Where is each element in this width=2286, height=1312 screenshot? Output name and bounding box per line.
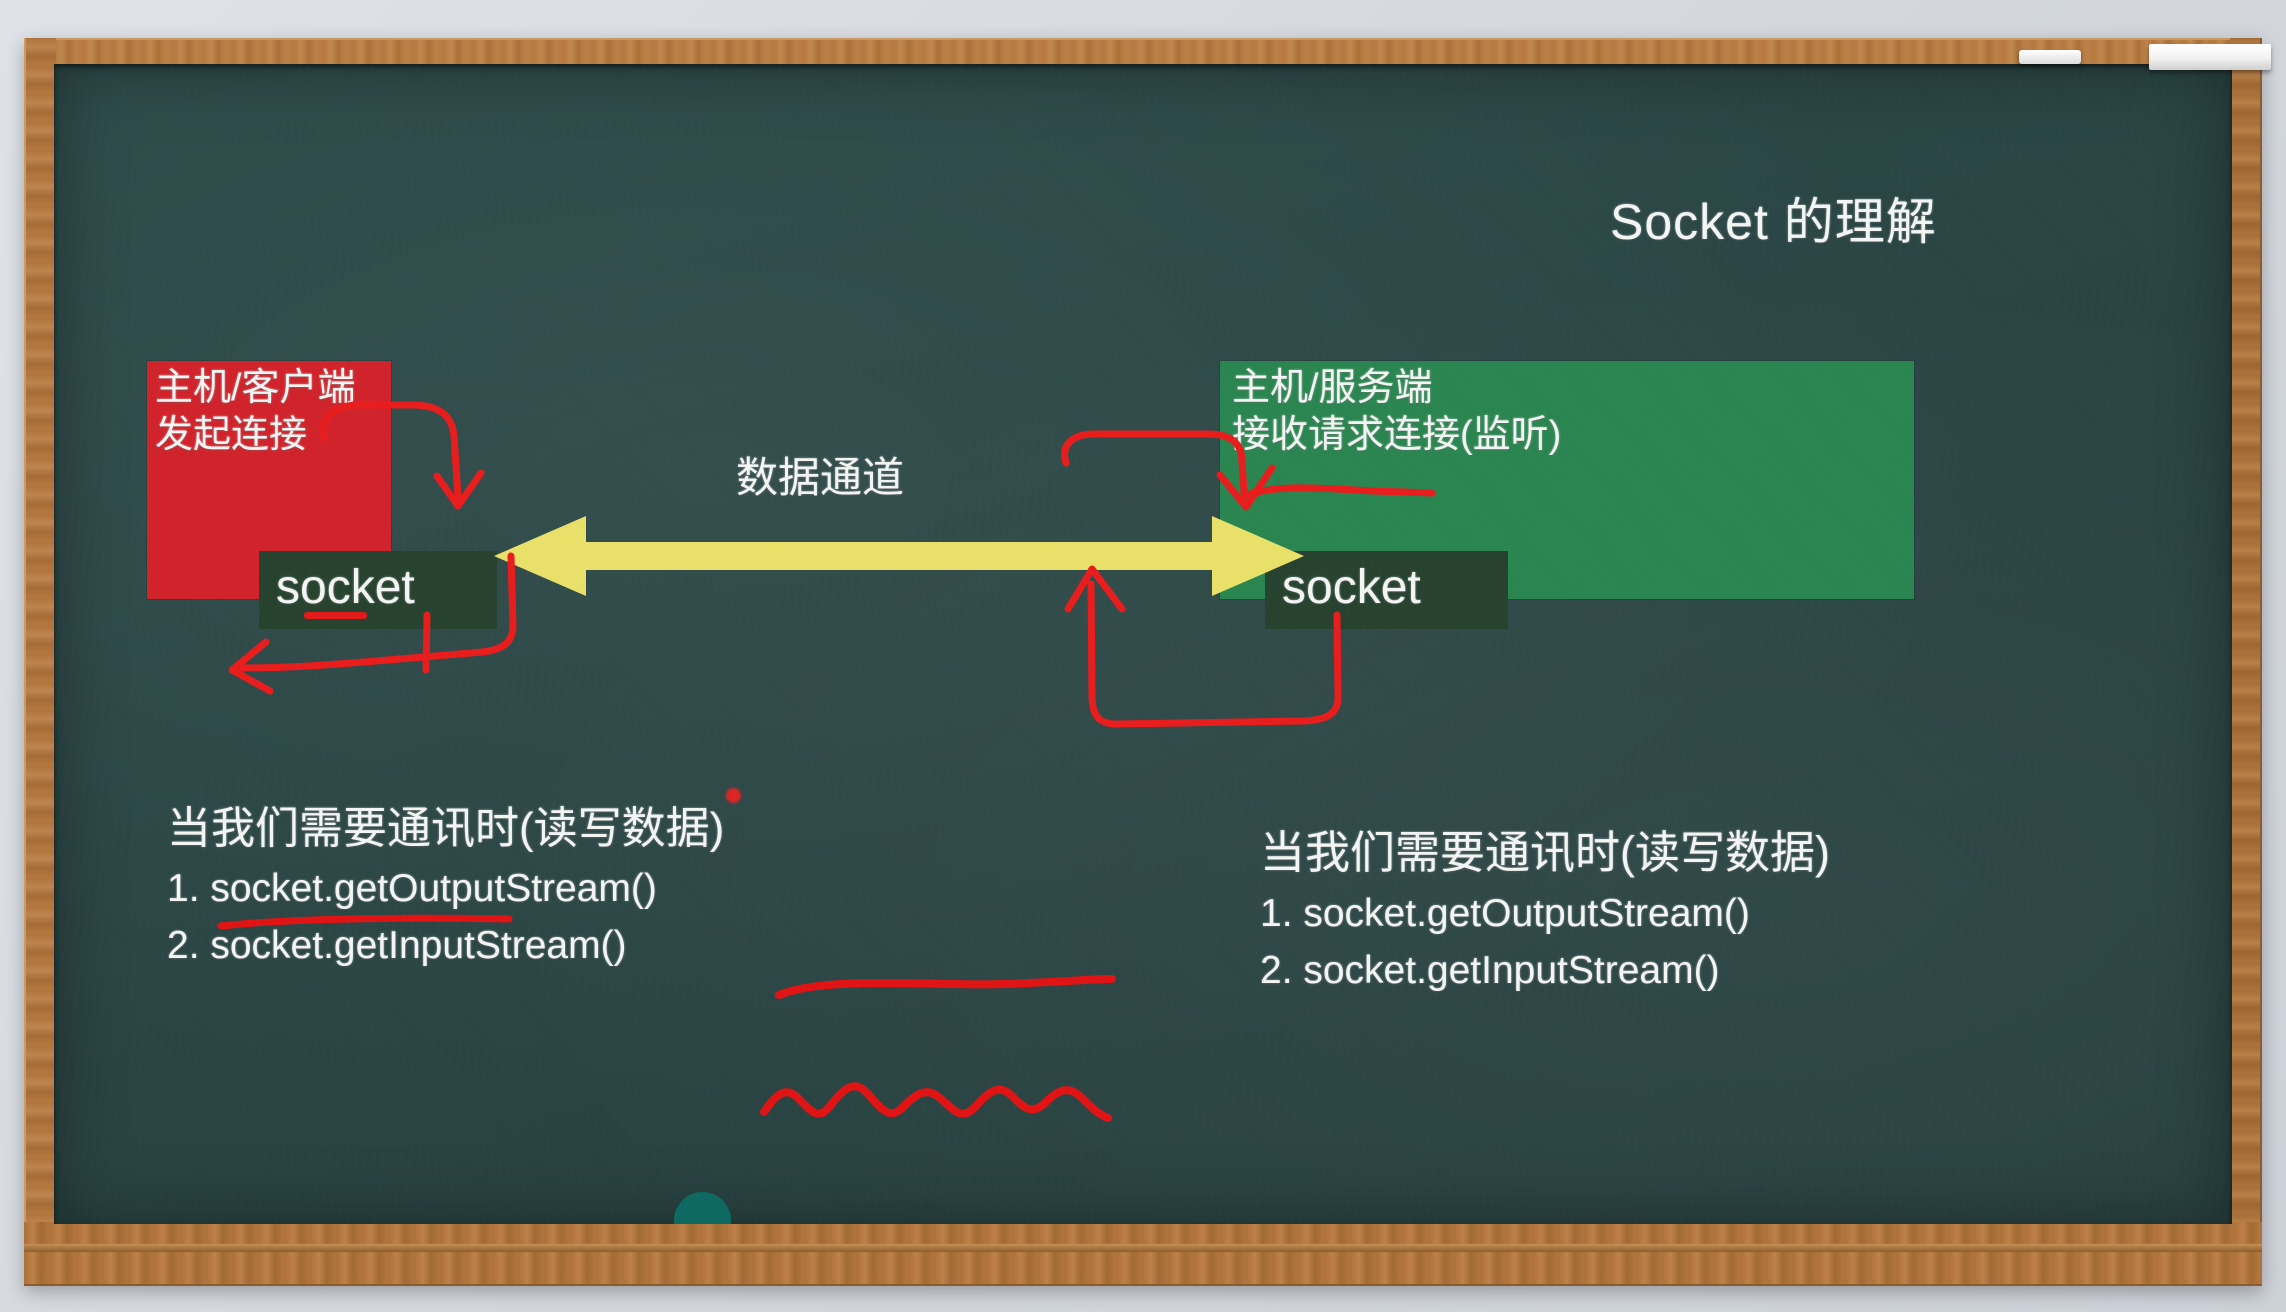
frame-left-rail [24, 38, 56, 1286]
red-annotation-layer [54, 64, 2232, 1224]
hand-drawn-underline-icon [1244, 488, 1432, 496]
hand-drawn-line-icon [426, 615, 427, 670]
straight-underline-icon [221, 918, 509, 926]
straight-underline-icon [779, 979, 1112, 995]
wavy-underline-icon [764, 1086, 1108, 1118]
hand-drawn-arrow-icon [241, 556, 513, 668]
frame-right-rail [2230, 38, 2262, 1286]
hand-drawn-arrow-icon [1065, 434, 1244, 492]
red-cursor-dot-icon [726, 788, 741, 803]
board-eraser-icon[interactable] [2149, 44, 2271, 70]
frame-top-rail [24, 38, 2262, 66]
chalkboard-frame: Socket 的理解 主机/客户端 发起连接 socket 主机/服务端 接收请… [24, 38, 2262, 1286]
chalkboard-surface: Socket 的理解 主机/客户端 发起连接 socket 主机/服务端 接收请… [54, 64, 2232, 1224]
hand-drawn-arrow-icon [1091, 584, 1338, 724]
chalk-ledge [24, 1244, 2262, 1252]
room-wall: Socket 的理解 主机/客户端 发起连接 socket 主机/服务端 接收请… [0, 0, 2286, 1312]
chalk-stick-icon[interactable] [2019, 50, 2081, 64]
arrowhead-up-icon [1068, 569, 1122, 609]
frame-bottom-rail [24, 1222, 2262, 1286]
